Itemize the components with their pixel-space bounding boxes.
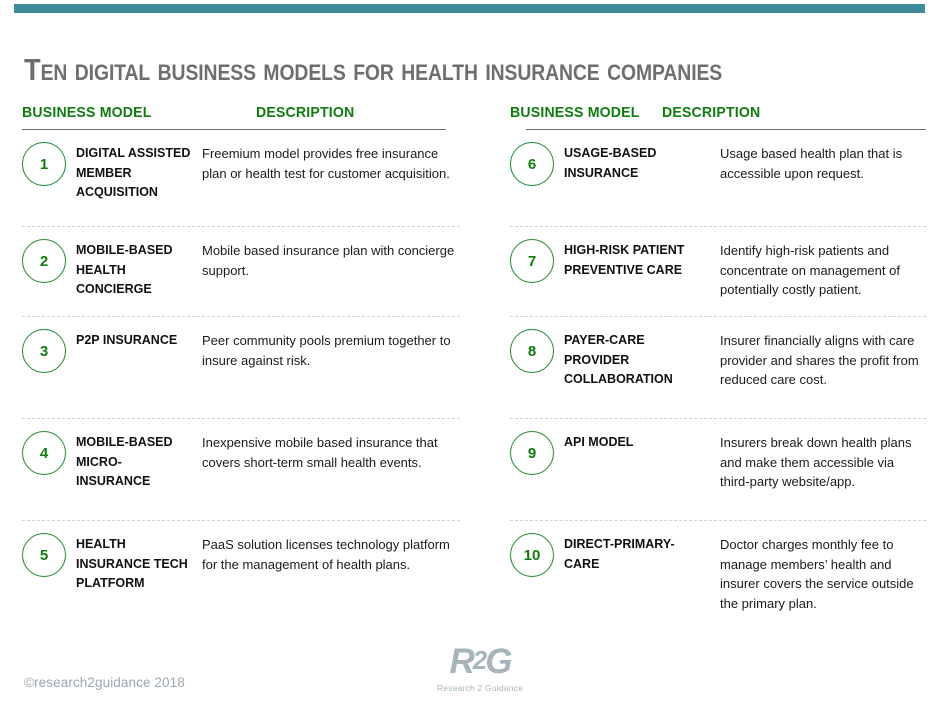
column-header-business-model: BUSINESS MODEL bbox=[22, 104, 242, 121]
table-row: 1 DIGITAL ASSISTED MEMBER ACQUISITION Fr… bbox=[22, 130, 460, 226]
logo-digit-two: 2 bbox=[473, 645, 485, 675]
row-number-cell: 4 bbox=[22, 419, 76, 475]
number-badge: 9 bbox=[510, 431, 554, 475]
number-badge: 6 bbox=[510, 142, 554, 186]
logo-letter-g: G bbox=[485, 642, 510, 681]
row-description: Mobile based insurance plan with concier… bbox=[198, 227, 460, 288]
page-title: Ten digital business models for health i… bbox=[24, 52, 722, 88]
row-number-cell: 6 bbox=[510, 130, 564, 186]
row-model-name: P2P INSURANCE bbox=[76, 317, 198, 351]
business-models-table-left: BUSINESS MODEL DESCRIPTION 1 DIGITAL ASS… bbox=[0, 104, 470, 620]
table-row: 9 API MODEL Insurers break down health p… bbox=[510, 418, 926, 520]
row-number-cell: 5 bbox=[22, 521, 76, 577]
row-number-cell: 9 bbox=[510, 419, 564, 475]
row-number-cell: 8 bbox=[510, 317, 564, 373]
table-row: 3 P2P INSURANCE Peer community pools pre… bbox=[22, 316, 460, 418]
row-description: Usage based health plan that is accessib… bbox=[716, 130, 926, 191]
row-description: Insurers break down health plans and mak… bbox=[716, 419, 926, 500]
number-badge: 5 bbox=[22, 533, 66, 577]
row-number-cell: 1 bbox=[22, 130, 76, 186]
table-header-row-left: BUSINESS MODEL DESCRIPTION bbox=[22, 104, 460, 129]
row-description: Inexpensive mobile based insurance that … bbox=[198, 419, 460, 480]
row-number-cell: 7 bbox=[510, 227, 564, 283]
table-row: 2 MOBILE-BASED HEALTH CONCIERGE Mobile b… bbox=[22, 226, 460, 316]
table-row: 10 DIRECT-PRIMARY-CARE Doctor charges mo… bbox=[510, 520, 926, 620]
table-header-row-right: BUSINESS MODEL DESCRIPTION bbox=[510, 104, 926, 129]
table-row: 7 HIGH-RISK PATIENT PREVENTIVE CARE Iden… bbox=[510, 226, 926, 316]
number-badge: 7 bbox=[510, 239, 554, 283]
top-accent-bar bbox=[14, 4, 925, 13]
number-badge: 1 bbox=[22, 142, 66, 186]
row-description: Identify high-risk patients and concentr… bbox=[716, 227, 926, 308]
table-row: 5 HEALTH INSURANCE TECH PLATFORM PaaS so… bbox=[22, 520, 460, 620]
copyright-text: ©research2guidance 2018 bbox=[24, 675, 185, 690]
column-header-business-model: BUSINESS MODEL bbox=[510, 104, 653, 121]
row-description: Peer community pools premium together to… bbox=[198, 317, 460, 378]
row-model-name: HIGH-RISK PATIENT PREVENTIVE CARE bbox=[564, 227, 716, 280]
row-description: Insurer financially aligns with care pro… bbox=[716, 317, 926, 398]
row-model-name: HEALTH INSURANCE TECH PLATFORM bbox=[76, 521, 198, 594]
table-row: 8 PAYER-CARE PROVIDER COLLABORATION Insu… bbox=[510, 316, 926, 418]
logo-letter-r: R bbox=[450, 642, 473, 681]
logo-wordmark: R2G bbox=[430, 641, 530, 681]
logo-tagline: Research 2 Guidance bbox=[430, 682, 530, 694]
r2g-logo: R2G Research 2 Guidance bbox=[430, 641, 530, 694]
row-model-name: MOBILE-BASED HEALTH CONCIERGE bbox=[76, 227, 198, 300]
row-model-name: DIRECT-PRIMARY-CARE bbox=[564, 521, 716, 574]
row-number-cell: 2 bbox=[22, 227, 76, 283]
number-badge: 4 bbox=[22, 431, 66, 475]
row-model-name: MOBILE-BASED MICRO-INSURANCE bbox=[76, 419, 198, 492]
row-description: Freemium model provides free insurance p… bbox=[198, 130, 460, 191]
row-model-name: PAYER-CARE PROVIDER COLLABORATION bbox=[564, 317, 716, 390]
row-model-name: API MODEL bbox=[564, 419, 716, 453]
row-description: PaaS solution licenses technology platfo… bbox=[198, 521, 460, 582]
row-model-name: USAGE-BASED INSURANCE bbox=[564, 130, 716, 183]
row-number-cell: 3 bbox=[22, 317, 76, 373]
number-badge: 3 bbox=[22, 329, 66, 373]
number-badge: 10 bbox=[510, 533, 554, 577]
row-description: Doctor charges monthly fee to manage mem… bbox=[716, 521, 926, 621]
row-model-name: DIGITAL ASSISTED MEMBER ACQUISITION bbox=[76, 130, 198, 203]
row-number-cell: 10 bbox=[510, 521, 564, 577]
column-header-description: DESCRIPTION bbox=[256, 104, 448, 121]
table-row: 4 MOBILE-BASED MICRO-INSURANCE Inexpensi… bbox=[22, 418, 460, 520]
business-models-tables: BUSINESS MODEL DESCRIPTION 1 DIGITAL ASS… bbox=[0, 104, 940, 620]
business-models-table-right: BUSINESS MODEL DESCRIPTION 6 USAGE-BASED… bbox=[470, 104, 940, 620]
column-header-description: DESCRIPTION bbox=[662, 104, 910, 121]
table-row: 6 USAGE-BASED INSURANCE Usage based heal… bbox=[510, 130, 926, 226]
number-badge: 8 bbox=[510, 329, 554, 373]
number-badge: 2 bbox=[22, 239, 66, 283]
